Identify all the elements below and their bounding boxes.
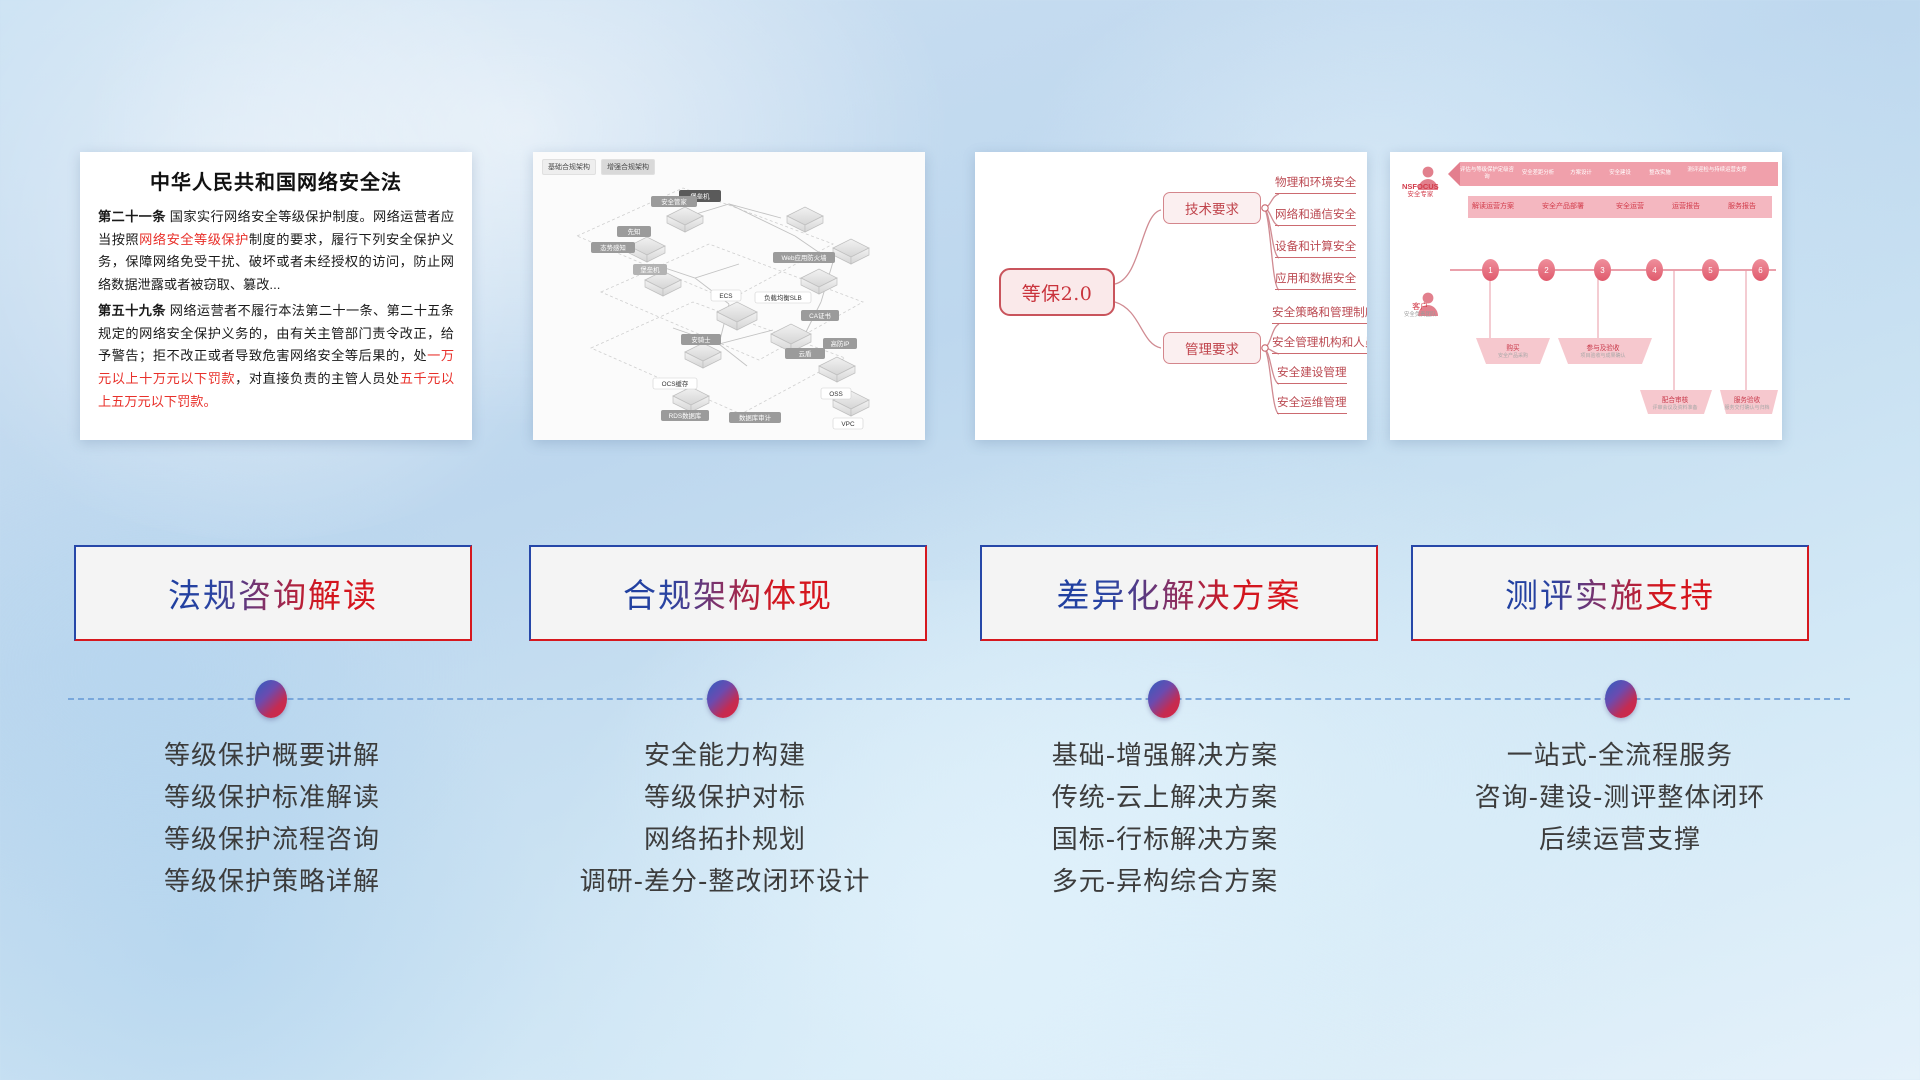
bottom-tag-main: 配合审核 (1644, 394, 1706, 404)
arch-node-label: 安全管家 (661, 197, 687, 206)
label-text: 测评实施支持 (1505, 569, 1715, 617)
detail-item: 基础-增强解决方案 (965, 735, 1365, 777)
architecture-diagram: 基础合规架构 增强合规架构 (533, 152, 925, 440)
detail-column-2: 安全能力构建 等级保护对标 网络拓扑规划 调研-差分-整改闭环设计 (525, 735, 925, 903)
detail-item: 等级保护对标 (525, 777, 925, 819)
card-cloud-architecture[interactable]: 基础合规架构 增强合规架构 (533, 152, 925, 440)
law-article-59-label: 第五十九条 (98, 303, 166, 318)
step-marker[interactable]: 6 (1752, 259, 1769, 281)
arch-node-label: OCS缓存 (662, 379, 689, 388)
mindmap-leaf[interactable]: 应用和数据安全 (1275, 270, 1356, 290)
label-text: 法规咨询解读 (168, 569, 378, 617)
arch-node-label: RDS数据库 (669, 411, 702, 420)
detail-item: 传统-云上解决方案 (965, 777, 1365, 819)
mindmap: 等保2.0 技术要求 管理要求 物理和环境安全 网络和通信安全 设备和计算安全 … (975, 152, 1367, 440)
poster-stage: 中华人民共和国网络安全法 第二十一条 国家实行网络安全等级保护制度。网络运营者应… (0, 0, 1920, 1080)
customer-subtitle: 安全负责团队 (1404, 312, 1436, 319)
bottom-tag: 参与及验收 项目验收与成果确认 (1566, 342, 1640, 359)
mindmap-leaf[interactable]: 安全建设管理 (1277, 364, 1347, 384)
mindmap-branch-management[interactable]: 管理要求 (1163, 332, 1261, 364)
phase-label: 安全差距分析 (1518, 170, 1558, 177)
bottom-tag-sub: 评审会议及资料准备 (1644, 404, 1706, 411)
arch-node-label: 堡垒机 (640, 265, 660, 274)
detail-item: 等级保护概要讲解 (72, 735, 472, 777)
card-row: 中华人民共和国网络安全法 第二十一条 国家实行网络安全等级保护制度。网络运营者应… (0, 152, 1920, 444)
customer-block: 客户 安全负责团队 (1404, 302, 1436, 319)
detail-item: 等级保护流程咨询 (72, 819, 472, 861)
caption-label: 安全产品部署 (1532, 202, 1594, 211)
architecture-svg: 堡垒机 安全管家 先知 态势感知 堡垒机 安骑士 OCS缓存 (533, 152, 925, 440)
arch-node-label: 先知 (628, 227, 641, 236)
phase-label: 测评迎检与持续运营支撑 (1686, 167, 1748, 174)
brand-name: NSFOCUS (1402, 182, 1439, 191)
phase-label: 整改实施 (1642, 170, 1678, 177)
detail-item: 一站式-全流程服务 (1420, 735, 1820, 777)
mindmap-leaf[interactable]: 安全管理机构和人员 (1272, 334, 1367, 354)
arch-node-label: CA证书 (809, 311, 831, 320)
arch-node-label: OSS (829, 391, 843, 398)
mindmap-leaf[interactable]: 网络和通信安全 (1275, 206, 1356, 226)
timeline-dot-1[interactable] (255, 680, 287, 718)
service-roadmap: NSFOCUS 安全专家 客户 安全负责团队 评估与等级保护定级咨询 安全差距分… (1390, 152, 1782, 440)
brand-block: NSFOCUS 安全专家 (1402, 182, 1439, 199)
caption-label: 解读运营方案 (1464, 202, 1522, 211)
detail-item: 咨询-建设-测评整体闭环 (1420, 777, 1820, 819)
label-text: 合规架构体现 (623, 569, 833, 617)
detail-column-4: 一站式-全流程服务 咨询-建设-测评整体闭环 后续运营支撑 (1420, 735, 1820, 861)
timeline (0, 660, 1920, 700)
law-title: 中华人民共和国网络安全法 (98, 166, 454, 195)
mindmap-leaf[interactable]: 设备和计算安全 (1275, 238, 1356, 258)
bottom-tag: 购买 安全产品采购 (1482, 342, 1544, 359)
card-service-roadmap[interactable]: NSFOCUS 安全专家 客户 安全负责团队 评估与等级保护定级咨询 安全差距分… (1390, 152, 1782, 440)
bottom-tag: 配合审核 评审会议及资料准备 (1644, 394, 1706, 411)
step-marker[interactable]: 3 (1594, 259, 1611, 281)
arch-node-label: VPC (841, 421, 855, 428)
bottom-tag: 服务验收 服务交付确认与归档 (1720, 394, 1774, 411)
detail-column-1: 等级保护概要讲解 等级保护标准解读 等级保护流程咨询 等级保护策略详解 (72, 735, 472, 903)
law-article-59: 第五十九条 网络运营者不履行本法第二十一条、第二十五条规定的网络安全保护义务的，… (98, 300, 454, 414)
caption-label: 运营报告 (1662, 202, 1710, 211)
mindmap-root-node[interactable]: 等保2.0 (999, 268, 1115, 316)
detail-item: 网络拓扑规划 (525, 819, 925, 861)
detail-item: 安全能力构建 (525, 735, 925, 777)
bottom-tag-sub: 项目验收与成果确认 (1566, 352, 1640, 359)
arch-node-label: 安骑士 (691, 335, 711, 344)
phase-label: 方案设计 (1564, 170, 1598, 177)
arch-node-label: 态势感知 (600, 243, 626, 252)
label-text: 差异化解决方案 (1057, 569, 1302, 617)
timeline-dot-3[interactable] (1148, 680, 1180, 718)
detail-item: 等级保护策略详解 (72, 861, 472, 903)
label-box-assessment-support[interactable]: 测评实施支持 (1411, 545, 1809, 641)
label-row: 法规咨询解读 合规架构体现 差异化解决方案 测评实施支持 (0, 545, 1920, 645)
phase-label: 安全建设 (1604, 170, 1636, 177)
timeline-dot-2[interactable] (707, 680, 739, 718)
law-article-21-label: 第二十一条 (98, 209, 166, 224)
phase-label: 评估与等级保护定级咨询 (1460, 167, 1514, 181)
arch-node-label: ECS (719, 293, 732, 300)
timeline-dot-4[interactable] (1605, 680, 1637, 718)
step-marker[interactable]: 5 (1702, 259, 1719, 281)
detail-item: 后续运营支撑 (1420, 819, 1820, 861)
arch-node-label: Web应用防火墙 (782, 253, 828, 262)
mindmap-branch-technical[interactable]: 技术要求 (1163, 192, 1261, 224)
card-cybersecurity-law[interactable]: 中华人民共和国网络安全法 第二十一条 国家实行网络安全等级保护制度。网络运营者应… (80, 152, 472, 440)
step-marker[interactable]: 2 (1538, 259, 1555, 281)
arch-node-label: 数据库审计 (739, 413, 772, 422)
law-article-21: 第二十一条 国家实行网络安全等级保护制度。网络运营者应当按照网络安全等级保护制度… (98, 206, 454, 297)
mindmap-leaf[interactable]: 安全策略和管理制度 (1272, 304, 1367, 324)
arch-node-label: 负载均衡SLB (764, 293, 802, 302)
label-box-compliance-architecture[interactable]: 合规架构体现 (529, 545, 927, 641)
mindmap-leaf[interactable]: 安全运维管理 (1277, 394, 1347, 414)
caption-label: 服务报告 (1718, 202, 1766, 211)
detail-item: 多元-异构综合方案 (965, 861, 1365, 903)
arch-node-label: 高防IP (831, 339, 850, 348)
card-mindmap-dengbao[interactable]: 等保2.0 技术要求 管理要求 物理和环境安全 网络和通信安全 设备和计算安全 … (975, 152, 1367, 440)
caption-label: 安全运营 (1606, 202, 1654, 211)
bottom-tag-main: 购买 (1482, 342, 1544, 352)
arch-node-label: 云盾 (799, 350, 812, 358)
law-article-59-text-b: ，对直接负责的主管人员处 (235, 371, 400, 386)
step-marker[interactable]: 4 (1646, 259, 1663, 281)
brand-subtitle: 安全专家 (1402, 191, 1439, 199)
bottom-tag-sub: 安全产品采购 (1482, 352, 1544, 359)
step-marker[interactable]: 1 (1482, 259, 1499, 281)
timeline-dashed-line (68, 698, 1850, 700)
bottom-tag-sub: 服务交付确认与归档 (1720, 404, 1774, 411)
bottom-tag-main: 参与及验收 (1566, 342, 1640, 352)
law-document: 中华人民共和国网络安全法 第二十一条 国家实行网络安全等级保护制度。网络运营者应… (80, 152, 472, 426)
detail-column-3: 基础-增强解决方案 传统-云上解决方案 国标-行标解决方案 多元-异构综合方案 (965, 735, 1365, 903)
law-article-21-highlight: 网络安全等级保护 (139, 232, 249, 247)
label-box-differentiated-solution[interactable]: 差异化解决方案 (980, 545, 1378, 641)
detail-item: 调研-差分-整改闭环设计 (525, 861, 925, 903)
label-box-regulation-consulting[interactable]: 法规咨询解读 (74, 545, 472, 641)
bottom-tag-main: 服务验收 (1720, 394, 1774, 404)
detail-item: 国标-行标解决方案 (965, 819, 1365, 861)
detail-item: 等级保护标准解读 (72, 777, 472, 819)
mindmap-leaf[interactable]: 物理和环境安全 (1275, 174, 1356, 194)
customer-name: 客户 (1404, 302, 1436, 312)
